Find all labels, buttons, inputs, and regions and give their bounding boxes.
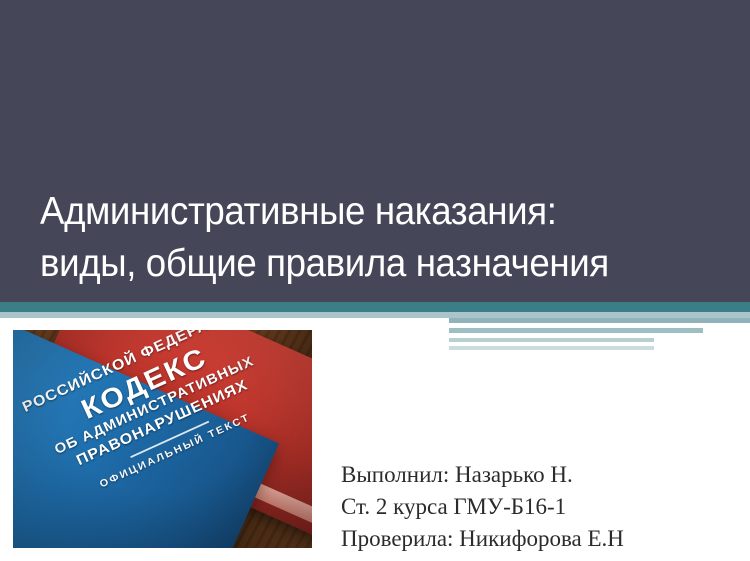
code-book-photo: РОССИЙСКОЙ ФЕДЕРАЦИИ КОДЕКС ОБ АДМИНИСТР… xyxy=(13,330,312,548)
title-line-1: Административные наказания: xyxy=(40,186,698,238)
photo-vignette xyxy=(13,330,312,548)
decorative-rule-3 xyxy=(449,328,703,333)
byline-author: Выполнил: Назарько Н. xyxy=(341,459,741,491)
decorative-rules xyxy=(449,318,750,352)
decorative-rule-7 xyxy=(449,346,654,350)
page-title: Административные наказания: виды, общие … xyxy=(40,186,740,290)
byline-group: Ст. 2 курса ГМУ-Б16-1 xyxy=(341,491,741,523)
decorative-rule-5 xyxy=(449,338,654,342)
byline-block: Выполнил: Назарько Н. Ст. 2 курса ГМУ-Б1… xyxy=(341,459,741,555)
byline-reviewer: Проверила: Никифорова Е.Н xyxy=(341,523,741,555)
decorative-rule-1 xyxy=(449,318,750,323)
title-line-2: виды, общие правила назначения xyxy=(40,238,698,290)
title-slide: Административные наказания: виды, общие … xyxy=(0,0,750,561)
accent-band xyxy=(0,302,750,312)
